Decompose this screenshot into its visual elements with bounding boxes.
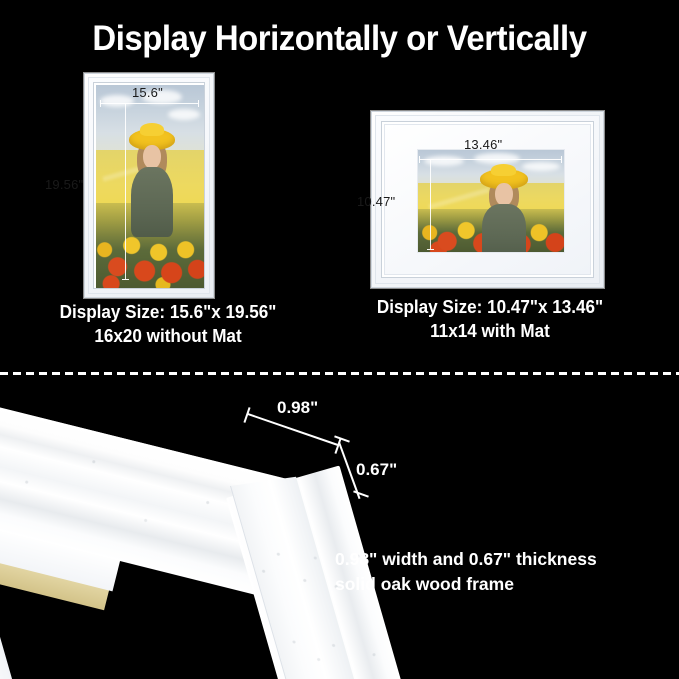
woman-face — [495, 183, 513, 206]
dim-height-cap-top — [427, 159, 434, 160]
dim-height-line — [430, 159, 431, 249]
inner-mat-vertical — [0, 627, 50, 679]
frame-vertical-16x20: 15.6" 19.56" — [84, 73, 214, 298]
dim-width-cap-right — [198, 100, 199, 107]
infographic-stage: Display Horizontally or Vertically — [0, 0, 679, 679]
artwork-horizontal — [417, 149, 565, 253]
frames-section: 15.6" 19.56" Display Size: 15.6"x 19.56"… — [0, 60, 679, 360]
caption-left-line2: 16x20 without Mat — [26, 324, 311, 348]
dim-width-line — [419, 159, 561, 160]
dim-height-label: 10.47" — [357, 194, 395, 209]
artwork-vertical — [96, 85, 204, 288]
caption-left-line1: Display Size: 15.6"x 19.56" — [26, 300, 311, 324]
profile-section: 0.98" 0.67" — [0, 380, 679, 679]
profile-caption: 0.98" width and 0.67" thickness solid oa… — [335, 547, 597, 597]
artwork-woman — [126, 123, 178, 243]
caption-right-frame: Display Size: 10.47"x 13.46" 11x14 with … — [348, 295, 633, 343]
dim-height-cap-bottom — [122, 279, 129, 280]
section-divider — [0, 372, 679, 375]
woman-face — [143, 145, 161, 169]
caption-right-line2: 11x14 with Mat — [348, 319, 633, 343]
dim-width-cap-left — [100, 100, 101, 107]
caption-right-line1: Display Size: 10.47"x 13.46" — [348, 295, 633, 319]
woman-dress — [131, 167, 173, 237]
dim-width-label: 13.46" — [464, 137, 502, 152]
profile-thickness-label: 0.67" — [356, 460, 397, 480]
woman-hat-crown — [491, 164, 516, 176]
dim-width-cap-left — [419, 156, 420, 163]
dim-height-line — [125, 103, 126, 279]
caption-left-frame: Display Size: 15.6"x 19.56" 16x20 withou… — [26, 300, 311, 348]
page-title: Display Horizontally or Vertically — [20, 18, 658, 60]
profile-width-label: 0.98" — [277, 398, 318, 418]
dim-height-cap-top — [122, 103, 129, 104]
dim-width-cap-right — [561, 156, 562, 163]
cloud-shape — [168, 109, 200, 120]
dim-height-cap-bottom — [427, 249, 434, 250]
frame-horizontal-11x14: 13.46" 10.47" — [371, 111, 604, 288]
frame-corner-photo — [0, 380, 390, 679]
dim-width-label: 15.6" — [132, 85, 163, 100]
dim-height-label: 19.56" — [45, 177, 83, 192]
woman-dress — [482, 204, 526, 253]
dim-width-line — [100, 103, 198, 104]
woman-hat-crown — [140, 123, 164, 136]
cloud-shape — [100, 95, 134, 107]
artwork-woman — [476, 164, 532, 252]
